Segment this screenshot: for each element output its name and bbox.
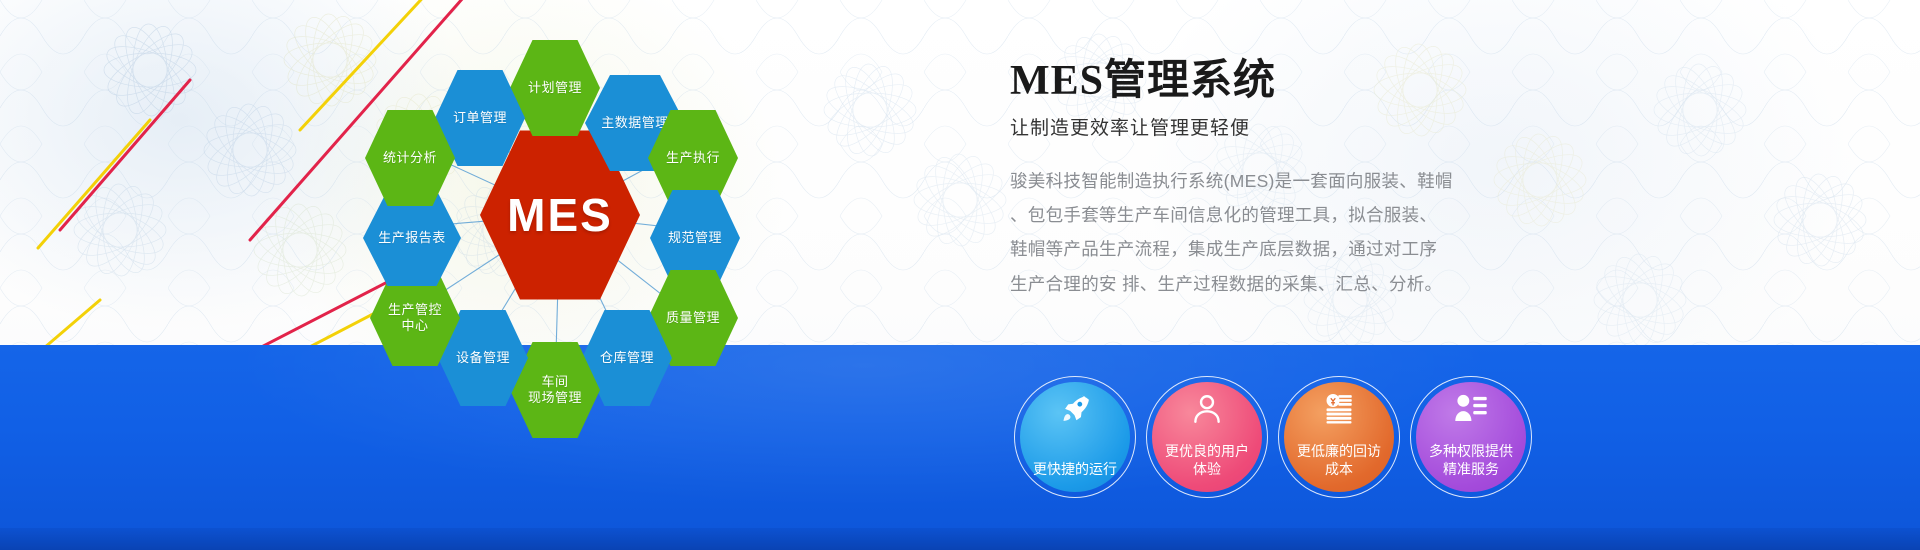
background-blue-bottom-edge: [0, 528, 1920, 550]
badge-label: 多种权限提供精准服务: [1416, 442, 1526, 478]
hex-label: 车间现场管理: [528, 374, 582, 406]
description-line: 骏美科技智能制造执行系统(MES)是一套面向服装、鞋帽: [1010, 164, 1570, 198]
description-paragraph: 骏美科技智能制造执行系统(MES)是一套面向服装、鞋帽 、包包手套等生产车间信息…: [1010, 164, 1570, 301]
hex-label: 质量管理: [666, 310, 720, 326]
background-blue-band: [0, 345, 1920, 550]
info-panel: MES管理系统 让制造更效率让管理更轻便 骏美科技智能制造执行系统(MES)是一…: [1010, 58, 1630, 301]
hex-label: 生产执行: [666, 150, 720, 166]
badge-label: 更优良的用户体验: [1152, 442, 1262, 478]
badge-faster-operation[interactable]: 更快捷的运行: [1020, 382, 1130, 492]
mes-hex-diagram: MES 计划管理 订单管理 主数据管理 生产执行 规范管理 质量管理 仓库管理 …: [330, 20, 790, 440]
user-icon: [1190, 392, 1224, 426]
hex-center-label: MES: [507, 187, 613, 243]
description-line: 、包包手套等生产车间信息化的管理工具，拟合服装、: [1010, 198, 1570, 232]
rocket-icon: [1058, 392, 1092, 426]
hex-label: 仓库管理: [600, 350, 654, 366]
badge-lower-revisit-cost[interactable]: 更低廉的回访成本: [1284, 382, 1394, 492]
description-line: 鞋帽等产品生产流程，集成生产底层数据，通过对工序: [1010, 232, 1570, 266]
description-line: 生产合理的安 排、生产过程数据的采集、汇总、分析。: [1010, 267, 1570, 301]
badge-label: 更低廉的回访成本: [1284, 442, 1394, 478]
hex-label: 设备管理: [456, 350, 510, 366]
hex-label: 统计分析: [383, 150, 437, 166]
banner-stage: MES 计划管理 订单管理 主数据管理 生产执行 规范管理 质量管理 仓库管理 …: [0, 0, 1920, 550]
coins-icon: [1322, 392, 1356, 426]
hex-label: 计划管理: [528, 80, 582, 96]
hex-label: 订单管理: [453, 110, 507, 126]
feature-badges: 更快捷的运行 更优良的用户体验 更低廉的回访成本: [1020, 382, 1526, 492]
badge-better-user-experience[interactable]: 更优良的用户体验: [1152, 382, 1262, 492]
hex-label: 规范管理: [668, 230, 722, 246]
hex-label: 生产报告表: [378, 230, 446, 246]
hex-label: 生产管控中心: [388, 302, 442, 334]
user-list-icon: [1454, 392, 1488, 426]
hex-label: 主数据管理: [601, 115, 669, 131]
badge-label: 更快捷的运行: [1025, 460, 1125, 478]
page-title: MES管理系统: [1010, 58, 1630, 104]
badge-multi-permission-service[interactable]: 多种权限提供精准服务: [1416, 382, 1526, 492]
page-subtitle: 让制造更效率让管理更轻便: [1010, 113, 1630, 140]
